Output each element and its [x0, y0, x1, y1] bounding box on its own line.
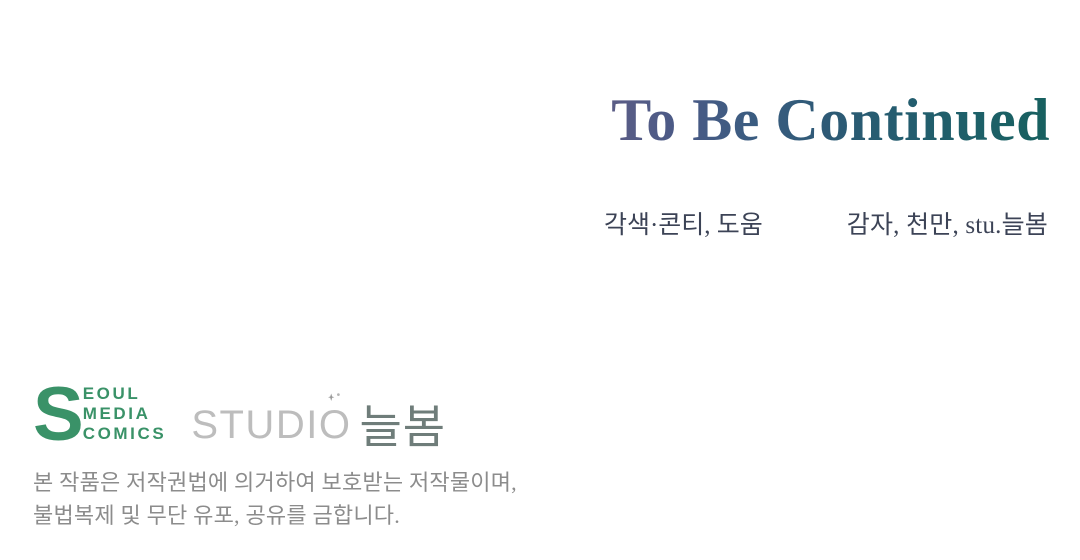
- seoul-media-comics-monogram-icon: S: [33, 382, 82, 447]
- smc-line-eoul: EOUL: [83, 384, 167, 404]
- sparkle-icon: [325, 392, 343, 410]
- seoul-media-comics-wordmark: EOUL MEDIA COMICS: [83, 384, 167, 444]
- smc-line-comics: COMICS: [83, 424, 167, 444]
- seoul-media-comics-logo: S EOUL MEDIA COMICS: [33, 375, 166, 451]
- smc-line-media: MEDIA: [83, 404, 167, 424]
- copyright-line-1: 본 작품은 저작권법에 의거하여 보호받는 저작물이며,: [33, 466, 517, 499]
- credits-row: 각색·콘티, 도움감자, 천만, stu.늘봄: [0, 205, 1048, 241]
- studio-nulbom-logo: STUDIO 늘봄: [191, 399, 446, 445]
- studio-wordmark: STUDIO: [191, 405, 353, 445]
- publisher-logo-lockup: S EOUL MEDIA COMICS STUDIO 늘봄: [33, 375, 446, 451]
- nulbom-wordmark: 늘봄: [359, 404, 446, 450]
- copyright-notice: 본 작품은 저작권법에 의거하여 보호받는 저작물이며, 불법복제 및 무단 유…: [33, 466, 517, 533]
- to-be-continued-title: To Be Continued: [611, 88, 1050, 153]
- to-be-continued-block: To Be Continued: [0, 88, 1050, 153]
- webtoon-end-card: To Be Continued 각색·콘티, 도움감자, 천만, stu.늘봄 …: [0, 0, 1080, 560]
- copyright-line-2: 불법복제 및 무단 유포, 공유를 금합니다.: [33, 499, 517, 532]
- credit-names-value: 감자, 천만, stu.늘봄: [847, 205, 1048, 241]
- credit-roles-label: 각색·콘티, 도움: [604, 205, 763, 241]
